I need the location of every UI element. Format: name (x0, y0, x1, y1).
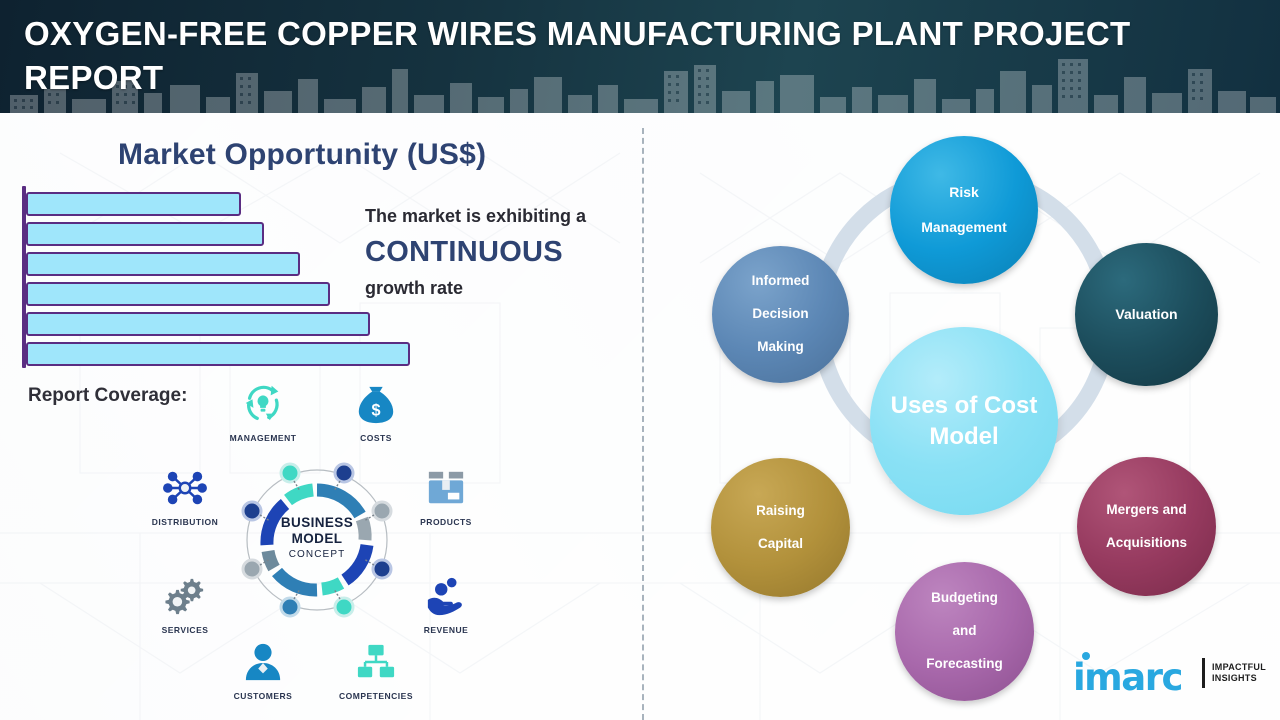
node-valuation[interactable]: Valuation (1075, 243, 1218, 386)
coverage-item-customers[interactable]: CUSTOMERS (215, 636, 311, 701)
node-budgeting-line1: Budgeting (920, 590, 1009, 606)
node-risk-management-line2: Management (915, 219, 1013, 236)
node-raising-line1: Raising (750, 503, 811, 519)
infographic-page: OXYGEN-FREE COPPER WIRES MANUFACTURING P… (0, 0, 1280, 720)
svg-text:$: $ (371, 401, 380, 419)
node-budgeting-forecasting[interactable]: Budgeting and Forecasting (895, 562, 1034, 701)
coverage-label-products: PRODUCTS (398, 517, 494, 527)
network-nodes-icon (137, 462, 233, 514)
coverage-item-products[interactable]: PRODUCTS (398, 462, 494, 527)
node-raising-line2: Capital (750, 536, 811, 552)
money-bag-icon: $ (328, 378, 424, 430)
node-risk-management-line1: Risk (915, 184, 1013, 201)
bar-4 (26, 282, 330, 306)
logo-divider-bar (1202, 658, 1205, 688)
growth-statement-line3: growth rate (365, 275, 645, 301)
coverage-item-costs[interactable]: $ COSTS (328, 378, 424, 443)
growth-statement-line1: The market is exhibiting a (365, 203, 645, 229)
node-informed-line1: Informed (746, 273, 816, 289)
bar-2 (26, 222, 264, 246)
bar-1 (26, 192, 241, 216)
center-node-line1: Uses of (891, 392, 978, 419)
coverage-label-distribution: DISTRIBUTION (137, 517, 233, 527)
bar-5 (26, 312, 370, 336)
logo-tagline: IMPACTFUL INSIGHTS (1212, 662, 1266, 684)
gears-icon (137, 570, 233, 622)
node-valuation-label: Valuation (1109, 306, 1183, 323)
bar-6 (26, 342, 410, 366)
user-person-icon (215, 636, 311, 688)
coverage-item-management[interactable]: MANAGEMENT (215, 378, 311, 443)
node-mergers-acquisitions[interactable]: Mergers and Acquisitions (1077, 457, 1216, 596)
coverage-item-distribution[interactable]: DISTRIBUTION (137, 462, 233, 527)
open-box-icon (398, 462, 494, 514)
logo-wordmark: imarc (1073, 656, 1182, 699)
market-opportunity-bar-chart (22, 186, 422, 368)
node-informed-line3: Making (746, 339, 816, 355)
node-raising-capital[interactable]: Raising Capital (711, 458, 850, 597)
bar-3 (26, 252, 300, 276)
market-opportunity-title: Market Opportunity (US$) (118, 138, 486, 172)
logo-tagline-line2: INSIGHTS (1212, 673, 1266, 684)
coverage-label-management: MANAGEMENT (215, 433, 311, 443)
node-budgeting-line3: Forecasting (920, 656, 1009, 672)
coverage-item-services[interactable]: SERVICES (137, 570, 233, 635)
coverage-label-costs: COSTS (328, 433, 424, 443)
recycle-bulb-icon (215, 378, 311, 430)
page-title: OXYGEN-FREE COPPER WIRES MANUFACTURING P… (24, 12, 1224, 100)
growth-statement: The market is exhibiting a CONTINUOUS gr… (365, 203, 645, 301)
business-model-wheel (238, 455, 396, 625)
growth-statement-highlight: CONTINUOUS (365, 229, 645, 275)
node-risk-management[interactable]: Risk Management (890, 136, 1038, 284)
report-coverage-label: Report Coverage: (28, 385, 187, 407)
coverage-label-competencies: COMPETENCIES (328, 691, 424, 701)
logo-tagline-line1: IMPACTFUL (1212, 662, 1266, 673)
imarc-logo[interactable]: imarc IMPACTFUL INSIGHTS (1073, 652, 1273, 700)
coverage-label-services: SERVICES (137, 625, 233, 635)
coverage-label-customers: CUSTOMERS (215, 691, 311, 701)
center-node-uses-of-cost-model: Uses of Cost Model (870, 327, 1058, 515)
coverage-item-revenue[interactable]: REVENUE (398, 570, 494, 635)
node-informed-line2: Decision (746, 306, 816, 322)
business-model-diagram: BUSINESS MODEL CONCEPT (238, 455, 396, 625)
node-informed-decision-making[interactable]: Informed Decision Making (712, 246, 849, 383)
coverage-label-revenue: REVENUE (398, 625, 494, 635)
node-mergers-line1: Mergers and (1100, 502, 1193, 518)
coverage-item-competencies[interactable]: COMPETENCIES (328, 636, 424, 701)
page-header: OXYGEN-FREE COPPER WIRES MANUFACTURING P… (0, 0, 1280, 113)
org-chart-icon (328, 636, 424, 688)
node-budgeting-line2: and (920, 623, 1009, 639)
node-mergers-line2: Acquisitions (1100, 535, 1193, 551)
hand-coins-icon (398, 570, 494, 622)
